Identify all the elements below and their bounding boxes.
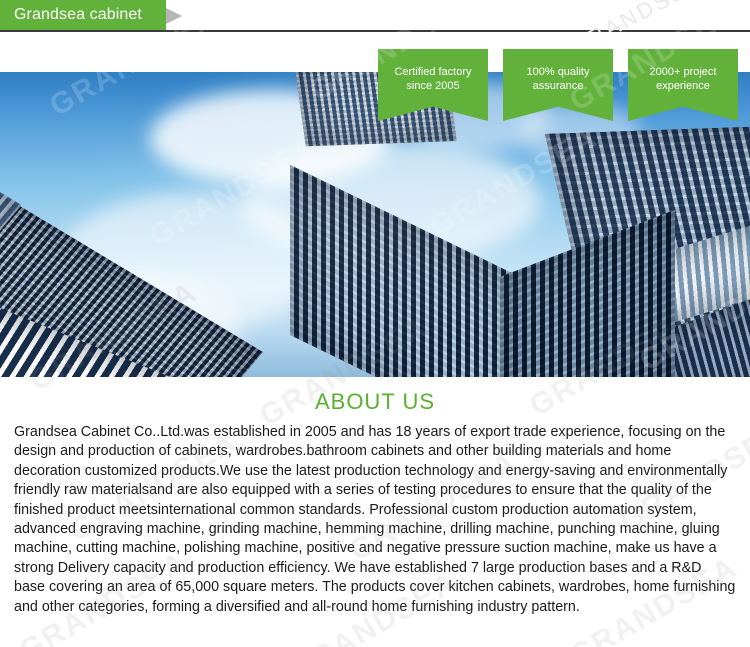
badge-certified-factory: Certified factory since 2005 [378,49,488,121]
badge-line-1: 100% quality [511,65,605,79]
triangle-right-icon [166,8,182,24]
about-title: ABOUT US [8,389,742,415]
badge-line-1: 2000+ project [636,65,730,79]
hero-section: Certified factory since 2005 100% qualit… [0,32,750,377]
brand-tab-label: Grandsea cabinet [14,6,142,24]
header-bar: Grandsea cabinet GRANDSEA [0,0,750,32]
badge-quality-assurance: 100% quality assurance [503,49,613,121]
badge-line-2: assurance [511,79,605,93]
about-body-text: Grandsea Cabinet Co..Ltd.was established… [8,423,742,617]
badge-group: Certified factory since 2005 100% qualit… [378,49,738,121]
skyscraper-shape [290,165,520,377]
badge-line-1: Certified factory [386,65,480,79]
badge-line-2: experience [636,79,730,93]
badge-line-2: since 2005 [386,79,480,93]
brand-tab[interactable]: Grandsea cabinet [0,0,166,30]
badge-project-experience: 2000+ project experience [628,49,738,121]
about-section: ABOUT US Grandsea Cabinet Co..Ltd.was es… [0,377,750,617]
